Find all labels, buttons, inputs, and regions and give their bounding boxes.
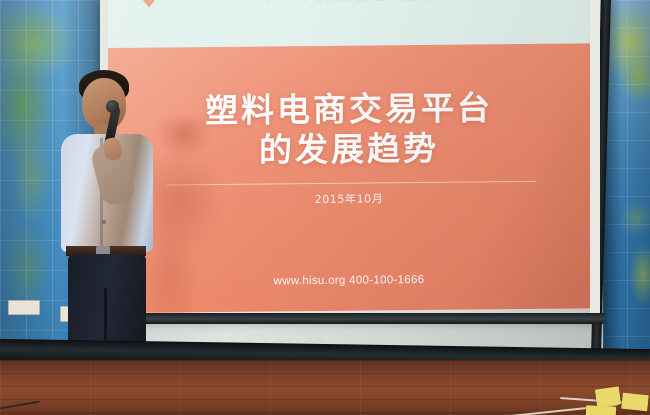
microphone-head-icon <box>106 100 119 113</box>
wood-floor <box>0 360 650 415</box>
world-map-wall-right <box>603 0 650 352</box>
slide-org-name-cn: 广东省重点培训进口商品交易中心 <box>304 0 454 4</box>
slide-org-name-en: HaiXi Plastics Exchange Center <box>158 0 313 3</box>
presentation-photo: HaiXi Plastics Exchange Center 广东省重点培训进口… <box>0 0 650 415</box>
slide-title-line-2: 的发展趋势 <box>108 128 590 173</box>
screen-bottom-bar <box>100 313 604 324</box>
presentation-slide: HaiXi Plastics Exchange Center 广东省重点培训进口… <box>108 0 590 313</box>
floor-plank-lines <box>0 360 650 415</box>
map-shading-right <box>603 0 650 352</box>
slide-title-line-1: 塑料电商交易平台 <box>108 87 590 132</box>
wall-socket <box>8 300 40 315</box>
shirt-button <box>102 220 106 224</box>
yellow-paper <box>586 405 616 415</box>
yellow-paper <box>621 393 649 412</box>
yellow-paper <box>595 386 621 407</box>
presenter-head <box>82 78 126 130</box>
slide-title-block: 塑料电商交易平台 的发展趋势 <box>108 87 590 172</box>
